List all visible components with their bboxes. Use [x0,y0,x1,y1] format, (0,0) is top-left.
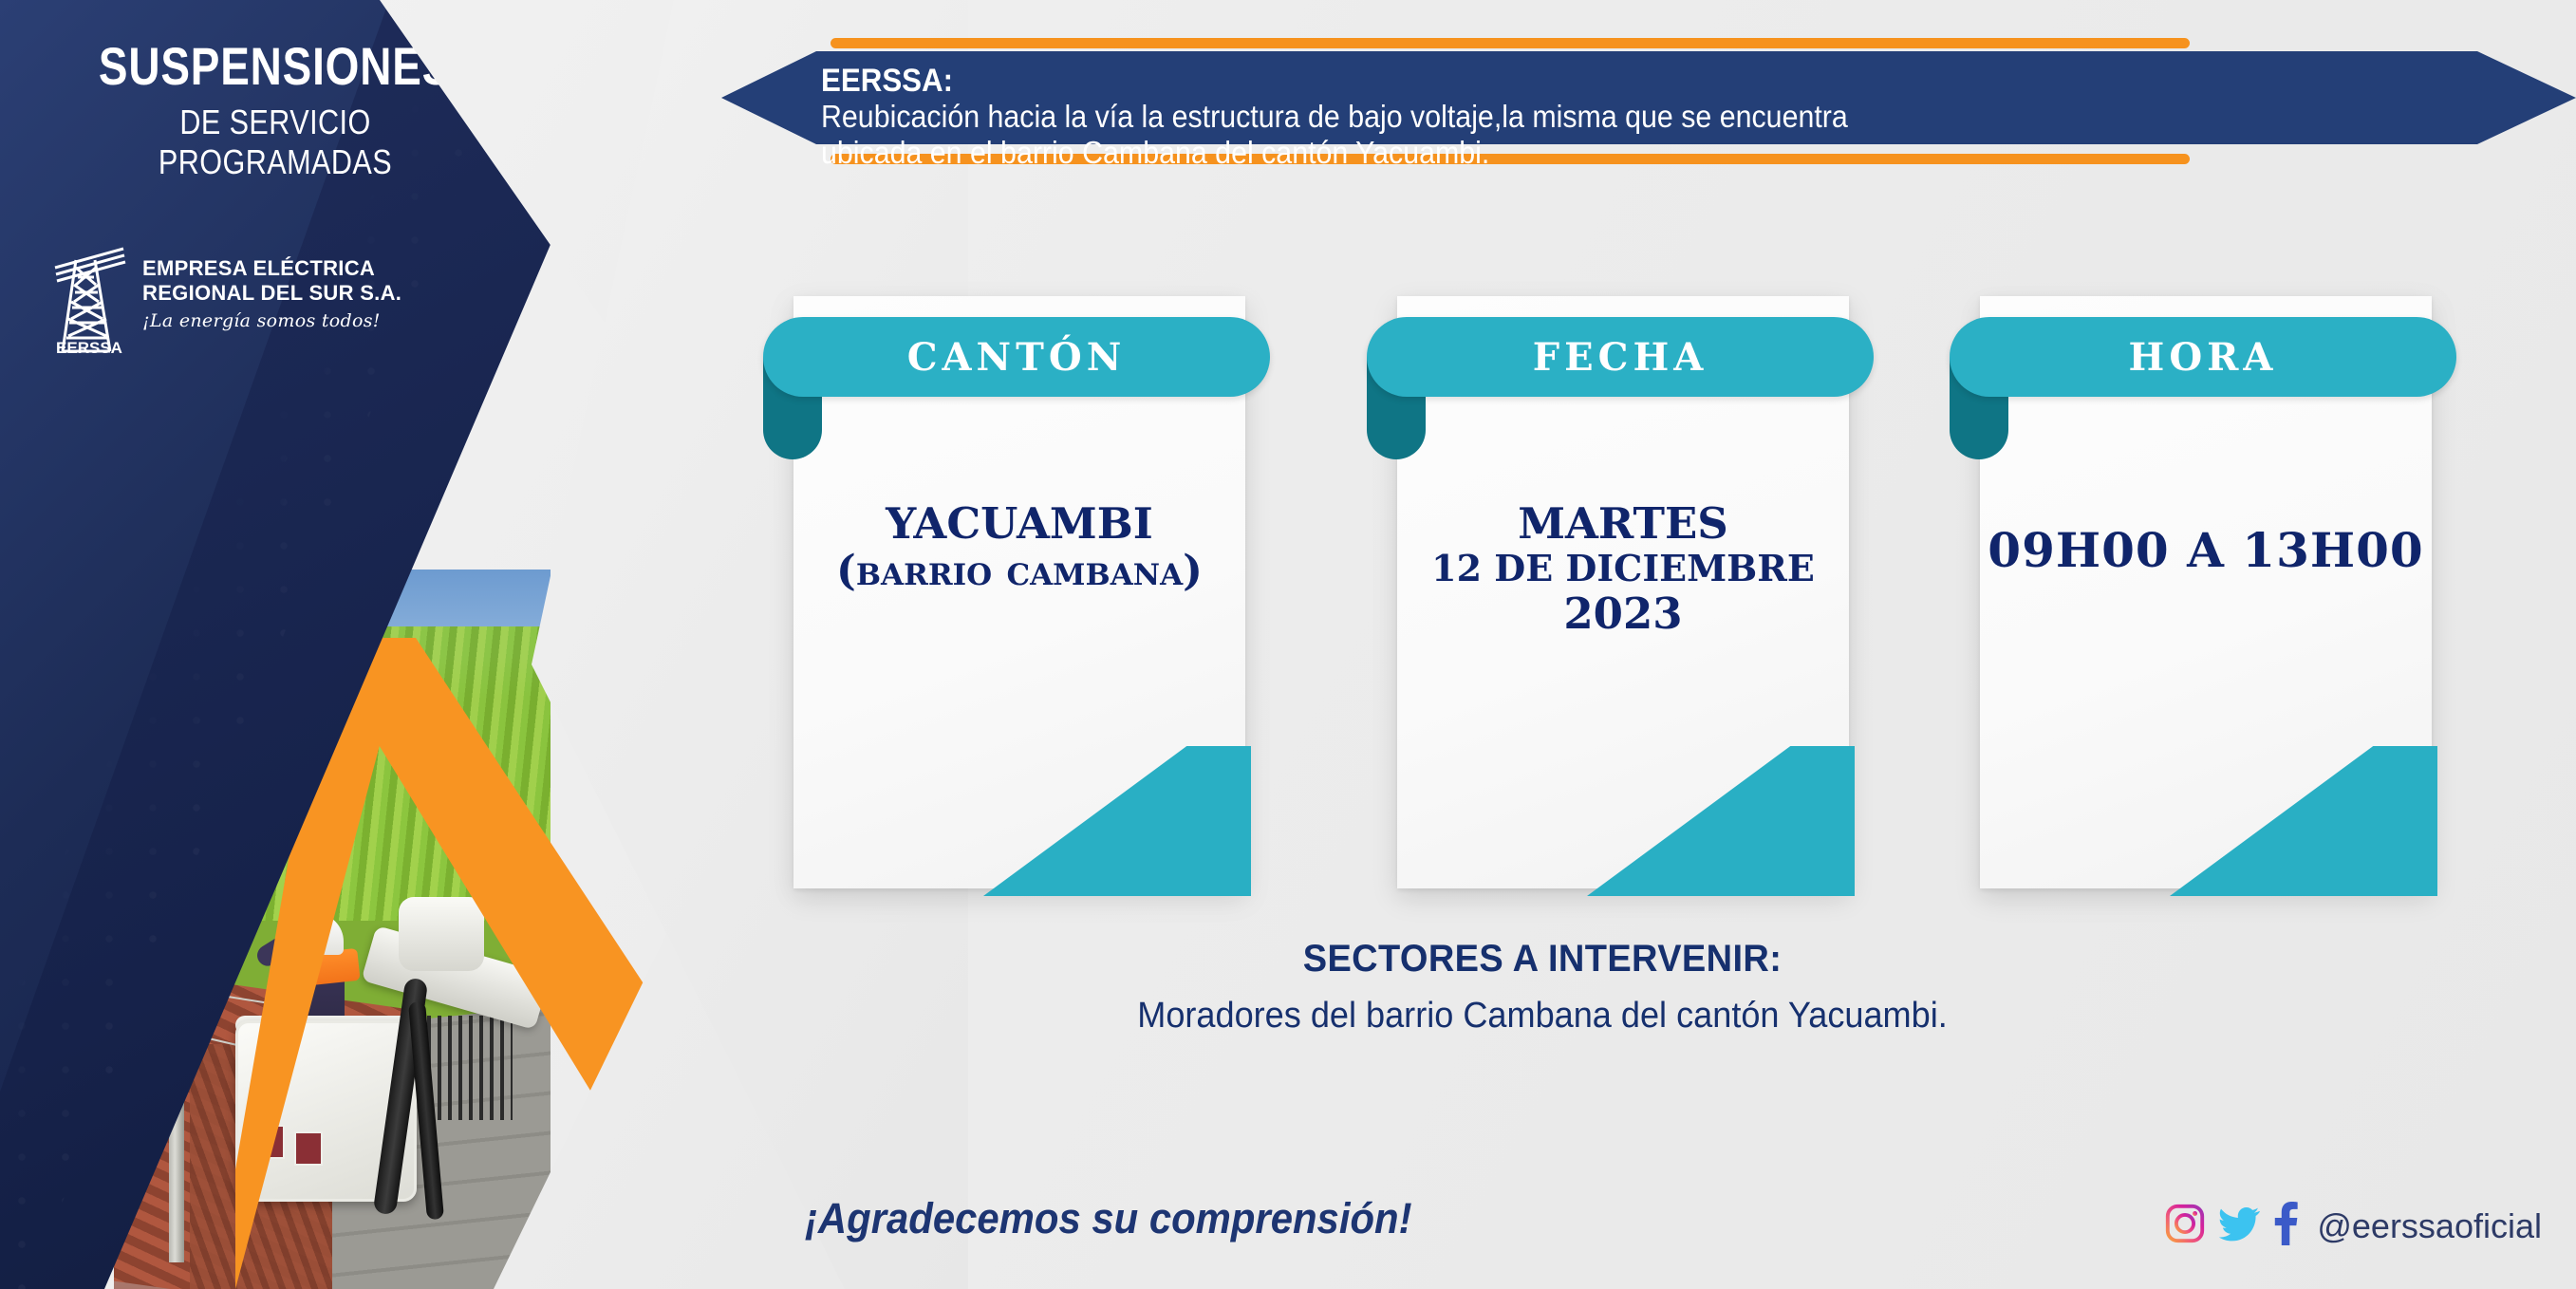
photo-boom-head [399,897,484,971]
eerssa-logo: EERSSA EMPRESA ELÉCTRICA REGIONAL DEL SU… [49,239,401,355]
card-header-label: CANTÓN [907,335,1127,380]
hora-range: 09H00 A 13H00 [1986,524,2426,577]
card-hora: HORA 09H00 A 13H00 [1980,296,2432,888]
suspension-notice-poster: SUSPENSIONES DE SERVICIO PROGRAMADAS [0,0,2576,1289]
banner-line-1: Reubicación hacia la vía la estructura d… [821,99,2305,135]
fecha-weekday: MARTES [1403,500,1843,548]
banner-top-rule [831,38,2190,48]
notice-banner: EERSSA: Reubicación hacia la vía la estr… [702,9,2576,171]
logo-line-2: REGIONAL DEL SUR S.A. [142,281,401,306]
instagram-icon[interactable] [2163,1202,2207,1250]
thanks-message: ¡Agradecemos su comprensión! [805,1194,1412,1243]
card-corner-fold [2170,746,2437,896]
photo-bucket-panel [294,1131,323,1166]
card-fecha: FECHA MARTES 12 DE DICIEMBRE 2023 [1397,296,1849,888]
card-body-fecha: MARTES 12 DE DICIEMBRE 2023 [1397,500,1849,639]
banner-title: EERSSA: [821,63,2305,99]
logo-tagline: ¡La energía somos todos! [142,310,401,331]
canton-neighborhood: (barrio Cambana) [799,548,1240,594]
social-links: @eerssaoficial [2163,1202,2542,1250]
page-subtitle: DE SERVICIO PROGRAMADAS [74,103,477,182]
card-header-label: FECHA [1533,335,1708,380]
logo-line-1: EMPRESA ELÉCTRICA [142,256,401,281]
card-corner-fold [983,746,1251,896]
card-body-hora: 09H00 A 13H00 [1980,524,2432,577]
social-handle: @eerssaoficial [2317,1206,2542,1246]
twitter-icon[interactable] [2216,1202,2262,1250]
card-header-hora: HORA [1950,317,2456,397]
card-corner-fold [1587,746,1855,896]
sectors-section: SECTORES A INTERVENIR: Moradores del bar… [854,938,2231,1037]
transmission-tower-icon: EERSSA [49,239,129,355]
card-header-label: HORA [2129,335,2278,380]
sectors-body: Moradores del barrio Cambana del cantón … [888,996,2196,1037]
fecha-year: 2023 [1403,590,1843,638]
card-body-canton: YACUAMBI (barrio Cambana) [793,500,1245,595]
banner-text: EERSSA: Reubicación hacia la vía la estr… [821,63,2435,172]
photo-fence [427,1016,513,1120]
card-header-fecha: FECHA [1367,317,1874,397]
page-title: SUSPENSIONES [88,40,462,93]
fecha-day-month: 12 DE DICIEMBRE [1403,548,1843,590]
info-cards: CANTÓN YACUAMBI (barrio Cambana) FECHA M… [793,296,2464,904]
canton-name: YACUAMBI [799,500,1240,548]
card-header-canton: CANTÓN [763,317,1270,397]
facebook-icon[interactable] [2271,1202,2300,1250]
logo-mark-text: EERSSA [56,339,122,355]
banner-line-2: ubicada en el barrio Cambana del cantón … [821,135,2305,171]
sectors-title: SECTORES A INTERVENIR: [888,938,2196,981]
logo-wordmark: EMPRESA ELÉCTRICA REGIONAL DEL SUR S.A. … [142,239,401,331]
card-canton: CANTÓN YACUAMBI (barrio Cambana) [793,296,1245,888]
